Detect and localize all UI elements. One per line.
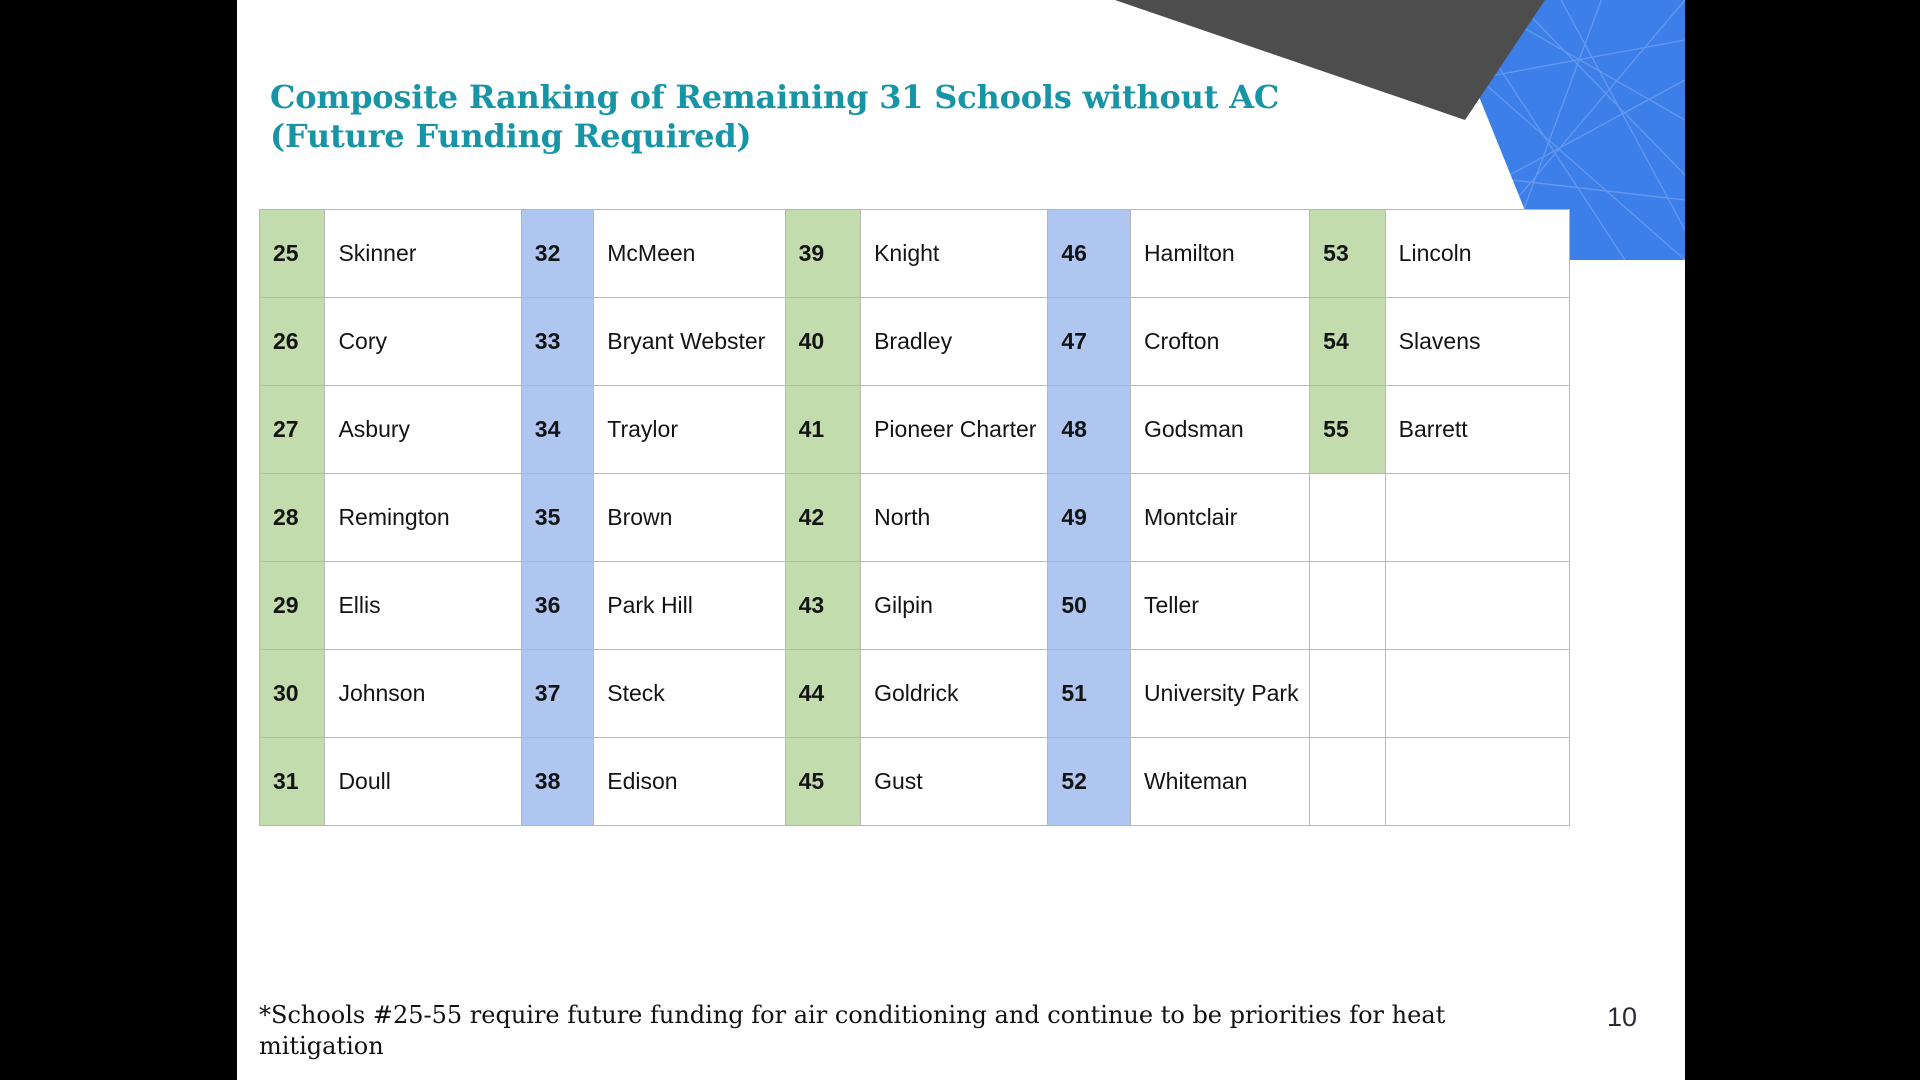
school-name-cell: Gilpin <box>861 562 1048 650</box>
rank-cell: 34 <box>521 386 593 474</box>
rank-cell: 54 <box>1310 298 1386 386</box>
table-row: 26Cory33Bryant Webster40Bradley47Crofton… <box>260 298 1570 386</box>
table-row: 27Asbury34Traylor41Pioneer Charter48Gods… <box>260 386 1570 474</box>
table-row: 30Johnson37Steck44Goldrick51University P… <box>260 650 1570 738</box>
rank-cell: 27 <box>260 386 325 474</box>
rank-cell: 46 <box>1048 210 1131 298</box>
school-name-cell: Remington <box>325 474 521 562</box>
school-name-cell: Asbury <box>325 386 521 474</box>
school-name-cell: North <box>861 474 1048 562</box>
rank-cell: 39 <box>785 210 861 298</box>
school-name-cell: Barrett <box>1385 386 1569 474</box>
school-name-cell: Doull <box>325 738 521 826</box>
school-name-cell <box>1385 738 1569 826</box>
slide-page-number: 10 <box>1607 1002 1637 1033</box>
school-name-cell: Bradley <box>861 298 1048 386</box>
school-name-cell: Park Hill <box>594 562 785 650</box>
rank-cell: 35 <box>521 474 593 562</box>
school-name-cell: University Park <box>1130 650 1309 738</box>
rank-cell: 43 <box>785 562 861 650</box>
school-name-cell: Pioneer Charter <box>861 386 1048 474</box>
rank-cell: 45 <box>785 738 861 826</box>
school-name-cell: Ellis <box>325 562 521 650</box>
rank-cell <box>1310 650 1386 738</box>
school-name-cell: Teller <box>1130 562 1309 650</box>
school-name-cell: Montclair <box>1130 474 1309 562</box>
rank-cell: 36 <box>521 562 593 650</box>
slide-title-line-1: Composite Ranking of Remaining 31 School… <box>270 78 1320 117</box>
school-name-cell <box>1385 650 1569 738</box>
school-name-cell: Edison <box>594 738 785 826</box>
school-ranking-table-body: 25Skinner32McMeen39Knight46Hamilton53Lin… <box>260 210 1570 826</box>
school-name-cell: Goldrick <box>861 650 1048 738</box>
rank-cell: 49 <box>1048 474 1131 562</box>
school-name-cell: Traylor <box>594 386 785 474</box>
school-name-cell: Brown <box>594 474 785 562</box>
slide-footnote: *Schools #25-55 require future funding f… <box>259 1000 1459 1062</box>
school-name-cell: McMeen <box>594 210 785 298</box>
rank-cell: 26 <box>260 298 325 386</box>
rank-cell: 51 <box>1048 650 1131 738</box>
school-name-cell: Slavens <box>1385 298 1569 386</box>
rank-cell: 29 <box>260 562 325 650</box>
table-row: 25Skinner32McMeen39Knight46Hamilton53Lin… <box>260 210 1570 298</box>
school-name-cell: Lincoln <box>1385 210 1569 298</box>
table-row: 31Doull38Edison45Gust52Whiteman <box>260 738 1570 826</box>
school-name-cell <box>1385 474 1569 562</box>
rank-cell: 47 <box>1048 298 1131 386</box>
school-name-cell: Godsman <box>1130 386 1309 474</box>
rank-cell: 41 <box>785 386 861 474</box>
rank-cell: 42 <box>785 474 861 562</box>
school-name-cell: Gust <box>861 738 1048 826</box>
rank-cell: 48 <box>1048 386 1131 474</box>
slide-title-line-2: (Future Funding Required) <box>270 117 1320 156</box>
rank-cell: 53 <box>1310 210 1386 298</box>
rank-cell <box>1310 562 1386 650</box>
school-name-cell: Johnson <box>325 650 521 738</box>
screenshot-stage: Composite Ranking of Remaining 31 School… <box>0 0 1920 1080</box>
school-name-cell: Steck <box>594 650 785 738</box>
school-name-cell: Knight <box>861 210 1048 298</box>
school-name-cell: Skinner <box>325 210 521 298</box>
table-row: 28Remington35Brown42North49Montclair <box>260 474 1570 562</box>
rank-cell: 40 <box>785 298 861 386</box>
rank-cell: 32 <box>521 210 593 298</box>
school-name-cell: Bryant Webster <box>594 298 785 386</box>
rank-cell <box>1310 474 1386 562</box>
rank-cell: 50 <box>1048 562 1131 650</box>
school-ranking-table: 25Skinner32McMeen39Knight46Hamilton53Lin… <box>259 209 1570 826</box>
school-name-cell: Hamilton <box>1130 210 1309 298</box>
presentation-slide: Composite Ranking of Remaining 31 School… <box>237 0 1685 1080</box>
rank-cell: 31 <box>260 738 325 826</box>
school-name-cell: Crofton <box>1130 298 1309 386</box>
rank-cell: 37 <box>521 650 593 738</box>
rank-cell: 28 <box>260 474 325 562</box>
rank-cell: 52 <box>1048 738 1131 826</box>
table-row: 29Ellis36Park Hill43Gilpin50Teller <box>260 562 1570 650</box>
school-name-cell <box>1385 562 1569 650</box>
rank-cell: 25 <box>260 210 325 298</box>
slide-title: Composite Ranking of Remaining 31 School… <box>270 78 1320 156</box>
school-name-cell: Cory <box>325 298 521 386</box>
rank-cell: 38 <box>521 738 593 826</box>
rank-cell: 44 <box>785 650 861 738</box>
rank-cell <box>1310 738 1386 826</box>
rank-cell: 30 <box>260 650 325 738</box>
rank-cell: 33 <box>521 298 593 386</box>
school-name-cell: Whiteman <box>1130 738 1309 826</box>
rank-cell: 55 <box>1310 386 1386 474</box>
